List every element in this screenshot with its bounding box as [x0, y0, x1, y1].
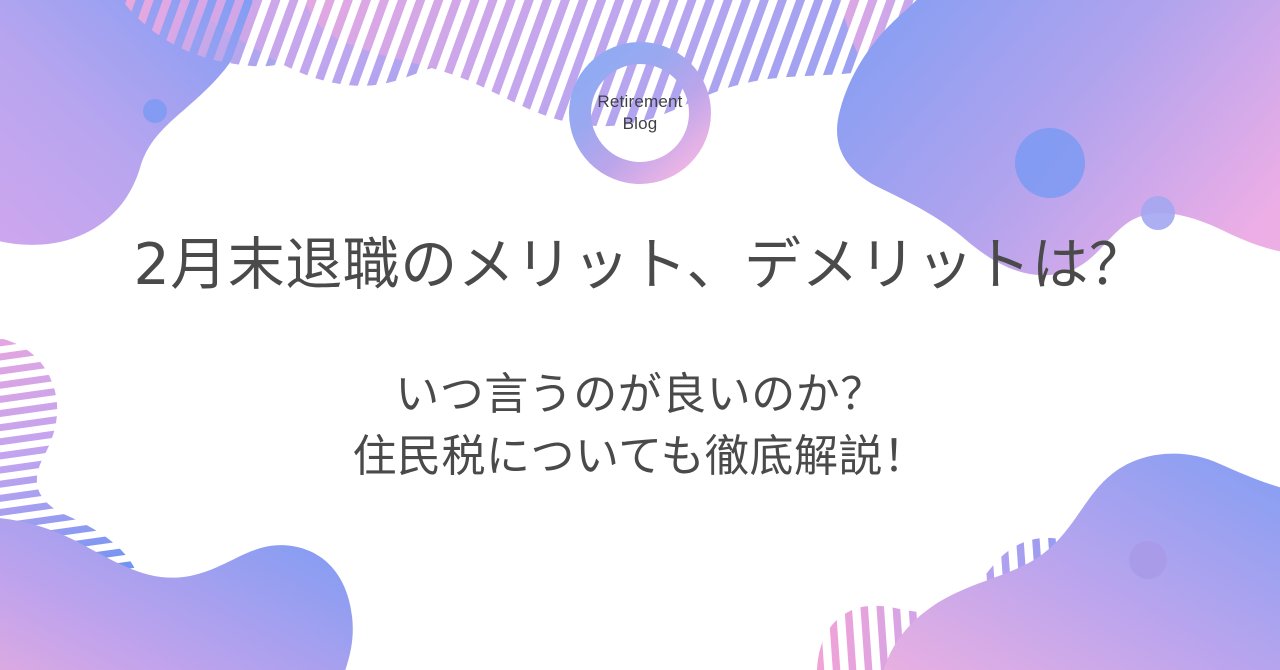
- decor-blob-top-left: [0, 0, 253, 245]
- decor-circle-bottom-right: [1129, 541, 1167, 579]
- page-title: 2月末退職のメリット、デメリットは？: [0, 232, 1280, 299]
- headline-block: 2月末退職のメリット、デメリットは？: [0, 232, 1280, 299]
- logo-text: Retirement Blog: [569, 42, 711, 184]
- decor-circle-top-right-small: [1141, 196, 1175, 230]
- decor-circle-top-right-large: [1015, 128, 1085, 198]
- site-logo[interactable]: Retirement Blog: [569, 42, 711, 184]
- decor-blob-bottom-left: [0, 517, 353, 670]
- decor-stripes-bottom-right: [817, 538, 1135, 670]
- decor-stripes-top-left-a: [114, 0, 302, 66]
- decor-circle-top-left: [143, 99, 167, 123]
- page-subtitle-line-1: いつ言うのが良いのか？: [0, 364, 1280, 426]
- decor-stripes-top-right: [830, 0, 1060, 109]
- subheadline-block: いつ言うのが良いのか？ 住民税についても徹底解説！: [0, 364, 1280, 489]
- blog-header-banner: Retirement Blog 2月末退職のメリット、デメリットは？ いつ言うの…: [0, 0, 1280, 670]
- page-subtitle-line-2: 住民税についても徹底解説！: [0, 426, 1280, 488]
- logo-line-1: Retirement: [597, 91, 682, 113]
- logo-line-2: Blog: [623, 113, 658, 135]
- decor-stripes-top-left-b: [140, 0, 640, 86]
